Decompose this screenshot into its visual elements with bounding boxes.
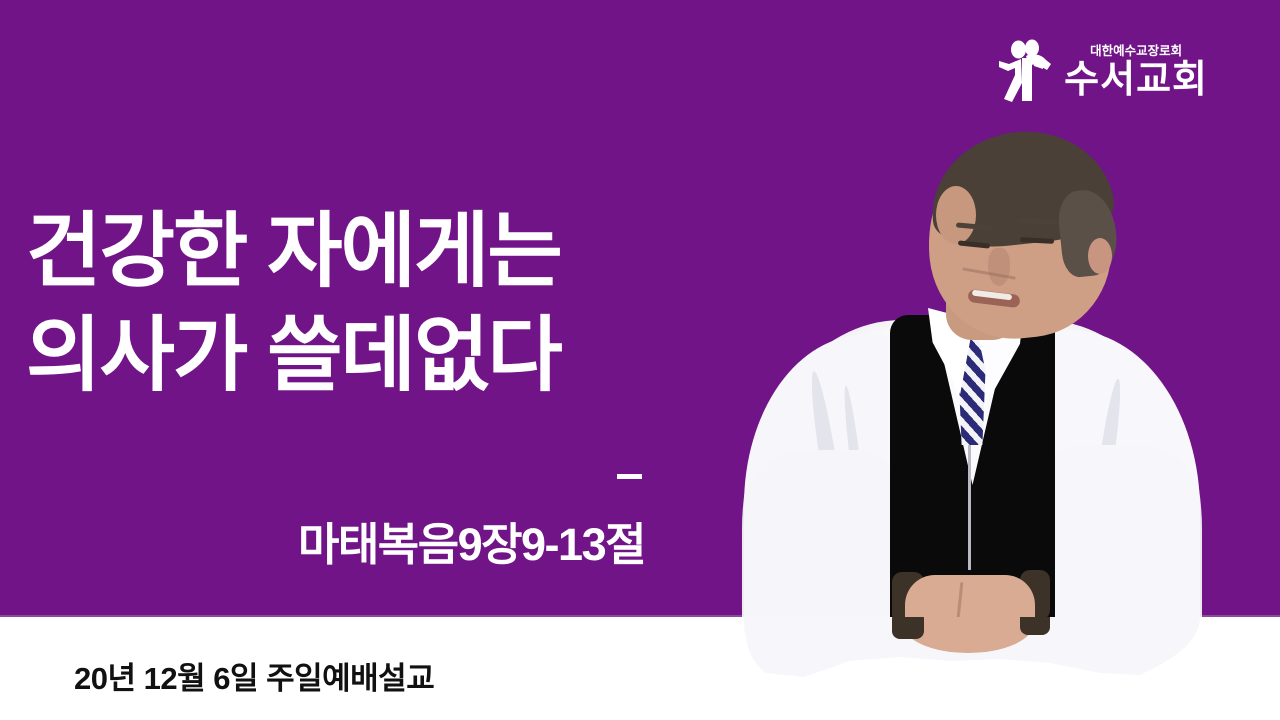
ear (1088, 238, 1112, 274)
church-logo-text: 대한예수교장로회 수서교회 (1064, 45, 1208, 99)
church-figure-icon (996, 39, 1054, 105)
dash-divider-icon (617, 474, 642, 479)
sermon-date-caption: 20년 12월 6일 주일예배설교 (74, 653, 434, 698)
sermon-title-line-1: 건강한 자에게는 (26, 200, 726, 304)
nose (988, 248, 1010, 286)
church-logo: 대한예수교장로회 수서교회 (996, 36, 1208, 108)
scripture-reference: 마태복음9장9-13절 (0, 508, 645, 573)
denomination-label: 대한예수교장로회 (1090, 45, 1182, 58)
church-name-label: 수서교회 (1064, 61, 1208, 99)
forehead (936, 186, 976, 244)
sermon-title-line-2: 의사가 쓸데없다 (26, 304, 726, 408)
sermon-thumbnail: 건강한 자에게는 의사가 쓸데없다 마태복음9장9-13절 대한예수교장로회 수… (0, 0, 1280, 720)
robe-overlap-lower (700, 617, 1220, 690)
pastor-photo (700, 120, 1220, 690)
sermon-title: 건강한 자에게는 의사가 쓸데없다 (26, 200, 726, 408)
